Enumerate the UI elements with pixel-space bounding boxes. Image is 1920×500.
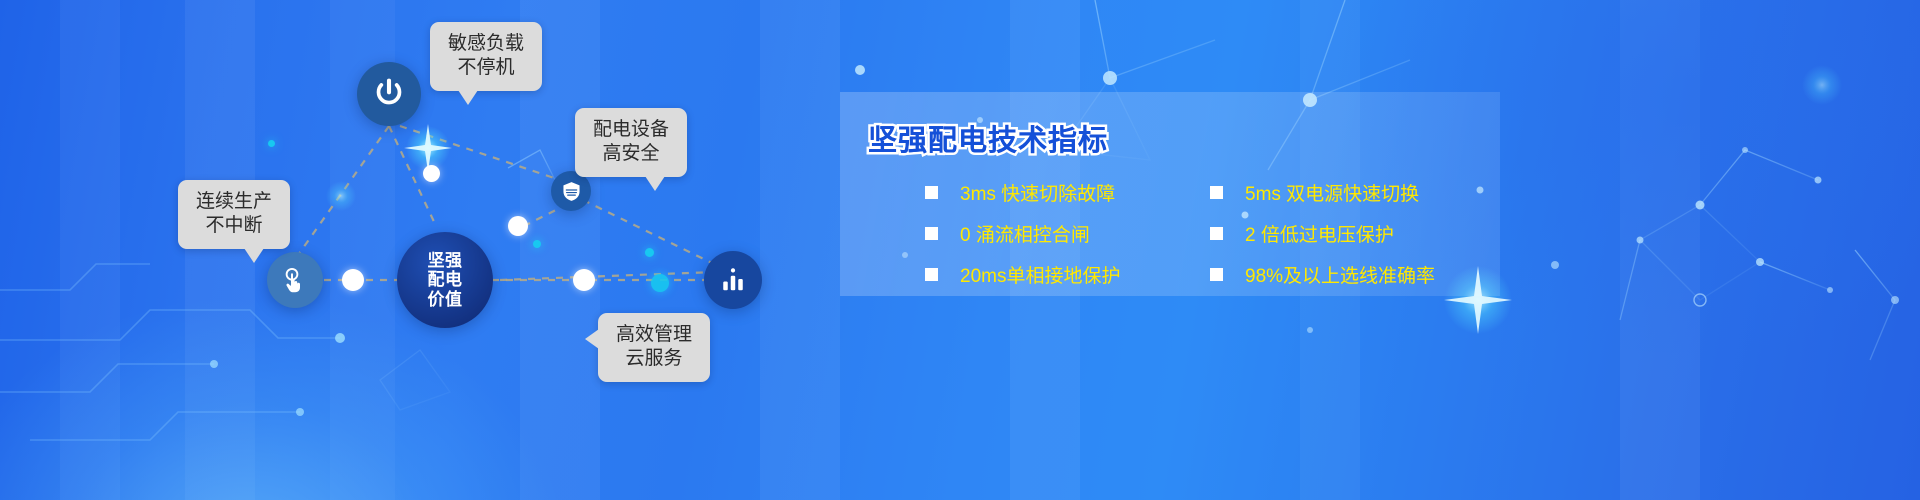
callout-cloud-management: 高效管理 云服务 [598, 313, 710, 382]
connector-dot [508, 216, 528, 236]
callout-line2: 不中断 [196, 214, 272, 238]
spec-item-label: 0 涌流相控合闸 [960, 220, 1090, 247]
spec-item: 98%及以上选线准确率 [1210, 254, 1495, 295]
center-hub-label: 坚强 配电 价值 [428, 251, 463, 308]
node-bar-chart[interactable] [704, 251, 762, 309]
accent-dot [651, 274, 669, 292]
accent-dot [533, 240, 541, 248]
spec-item-label: 3ms 快速切除故障 [960, 179, 1115, 206]
connector-dot [342, 269, 364, 291]
node-shield[interactable] [551, 171, 591, 211]
center-label-line3: 价值 [428, 290, 463, 309]
callout-line1: 敏感负载 [448, 32, 524, 56]
callout-line2: 高安全 [593, 142, 669, 166]
power-icon [372, 77, 406, 111]
banner-root: 坚强 配电 价值 敏感负载 不停机 配电设备 高安全 连续生产 不中断 高效管理… [0, 0, 1920, 500]
square-bullet-icon [925, 268, 938, 281]
node-power[interactable] [357, 62, 421, 126]
connector-dot [423, 165, 440, 182]
bar-chart-icon [718, 265, 748, 295]
spec-item-label: 2 倍低过电压保护 [1245, 220, 1394, 247]
callout-line1: 连续生产 [196, 190, 272, 214]
square-bullet-icon [1210, 268, 1223, 281]
accent-dot [645, 248, 654, 257]
shield-icon [560, 180, 583, 203]
spec-item-label: 5ms 双电源快速切换 [1245, 179, 1419, 206]
center-label-line2: 配电 [428, 270, 463, 289]
spec-item-label: 20ms单相接地保护 [960, 261, 1120, 288]
hand-click-icon [280, 265, 310, 295]
spec-panel-title: 坚强配电技术指标 [868, 117, 1108, 159]
center-label-line1: 坚强 [428, 251, 463, 270]
square-bullet-icon [925, 186, 938, 199]
spec-item: 5ms 双电源快速切换 [1210, 172, 1495, 213]
square-bullet-icon [925, 227, 938, 240]
callout-line2: 不停机 [448, 56, 524, 80]
callout-line2: 云服务 [616, 347, 692, 371]
spec-item: 3ms 快速切除故障 [925, 172, 1210, 213]
callout-line1: 配电设备 [593, 118, 669, 142]
node-center-hub[interactable]: 坚强 配电 价值 [397, 232, 493, 328]
square-bullet-icon [1210, 227, 1223, 240]
callout-distribution-safety: 配电设备 高安全 [575, 108, 687, 177]
spec-item: 2 倍低过电压保护 [1210, 213, 1495, 254]
callout-continuous-production: 连续生产 不中断 [178, 180, 290, 249]
spec-item-grid: 3ms 快速切除故障 5ms 双电源快速切换 0 涌流相控合闸 2 倍低过电压保… [925, 172, 1545, 295]
spec-item: 0 涌流相控合闸 [925, 213, 1210, 254]
square-bullet-icon [1210, 186, 1223, 199]
node-hand-click[interactable] [267, 252, 323, 308]
bottom-left-glow [0, 300, 560, 500]
callout-line1: 高效管理 [616, 323, 692, 347]
spec-item: 20ms单相接地保护 [925, 254, 1210, 295]
callout-sensitive-load: 敏感负载 不停机 [430, 22, 542, 91]
connector-dot [573, 269, 595, 291]
accent-dot [268, 140, 275, 147]
spec-item-label: 98%及以上选线准确率 [1245, 261, 1435, 288]
